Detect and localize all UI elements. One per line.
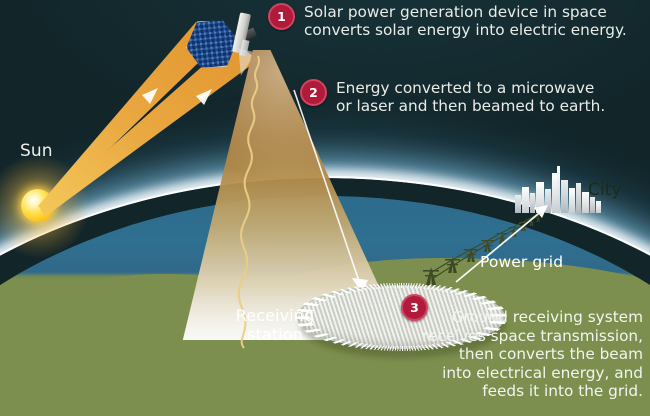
callout-step-2: 2 Energy converted to a microwave or las… (300, 79, 646, 116)
step-text-1: Solar power generation device in space c… (304, 3, 627, 40)
pylon (445, 257, 460, 273)
pylon (464, 248, 478, 262)
step-text-2: Energy converted to a microwave or laser… (336, 79, 605, 116)
label-city: City (588, 180, 622, 200)
step-badge-2: 2 (300, 79, 327, 106)
step-badge-1: 1 (268, 3, 295, 30)
pylon (482, 240, 494, 253)
label-power-grid: Power grid (480, 253, 563, 271)
callout-step-1: 1 Solar power generation device in space… (268, 3, 646, 40)
label-receiving-station: Receiving station (215, 306, 335, 344)
power-grid-arrow-line (456, 209, 544, 282)
step-text-3: Ground receiving system receives space t… (403, 308, 643, 401)
diagram-canvas: Sun City Power grid Receiving station 1 … (0, 0, 650, 416)
label-sun: Sun (20, 141, 53, 161)
